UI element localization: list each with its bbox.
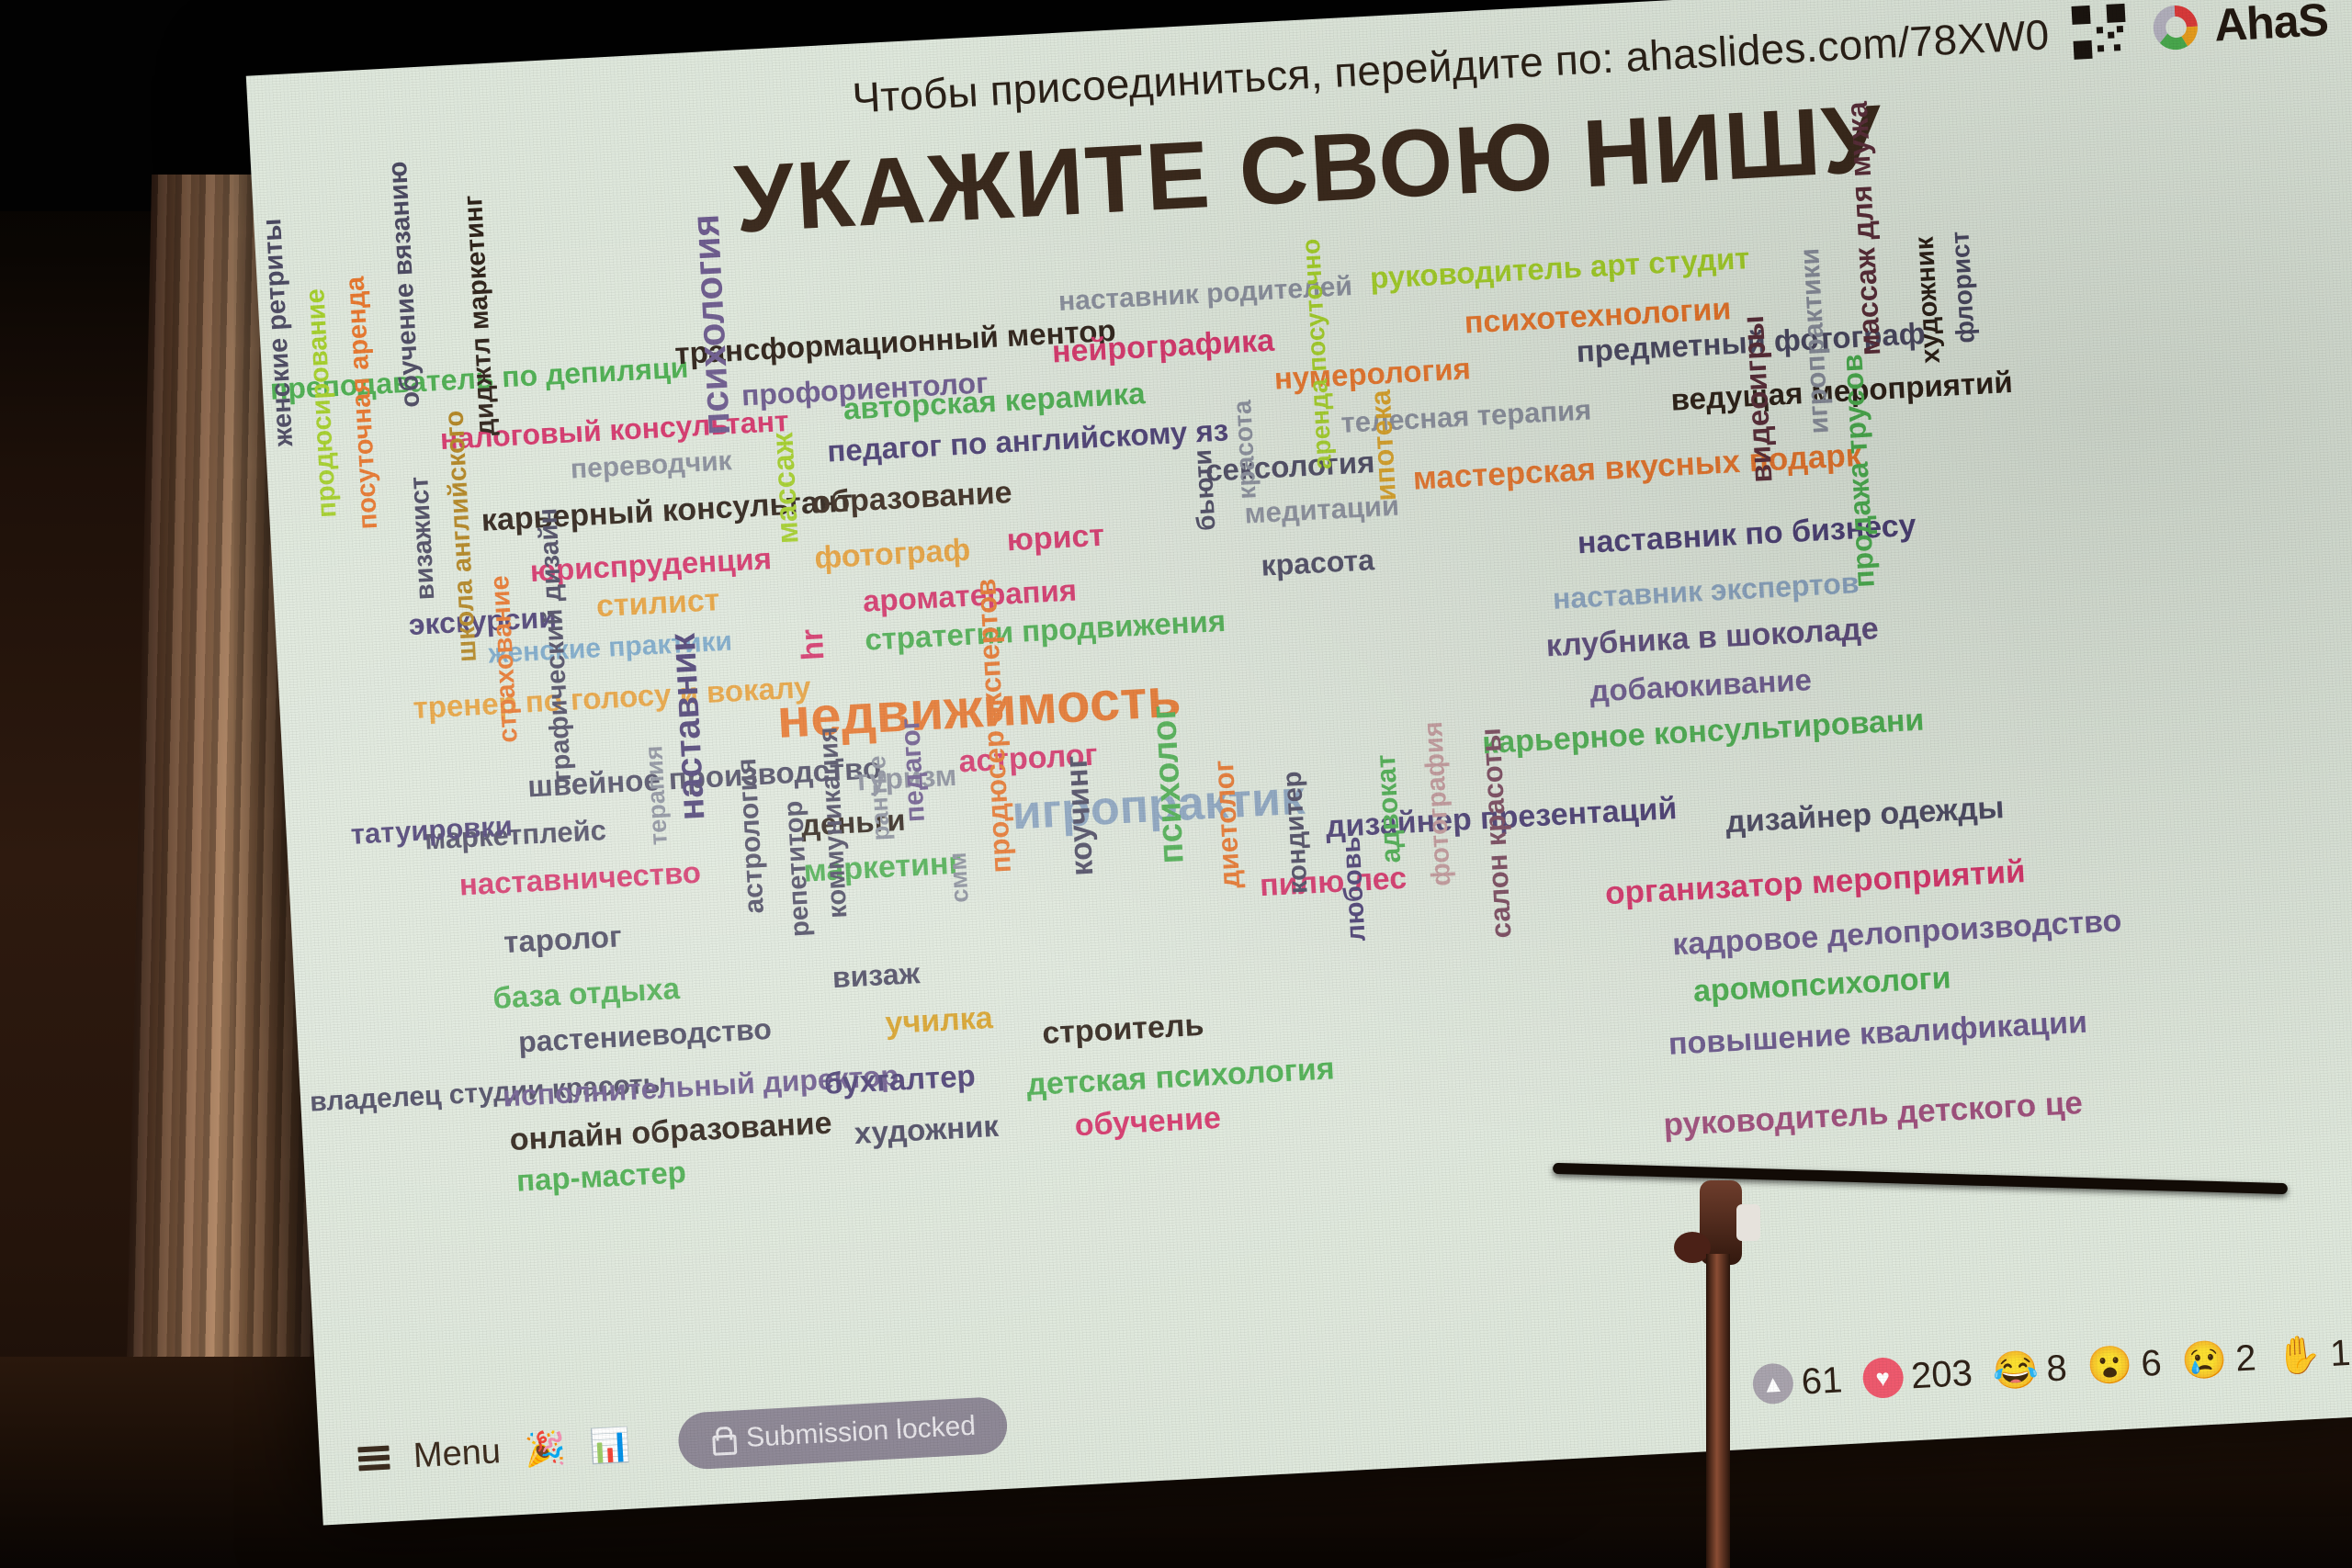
cloud-word: база отдыха bbox=[492, 973, 681, 1013]
menu-button[interactable]: Menu bbox=[413, 1432, 502, 1476]
submission-locked-label: Submission locked bbox=[745, 1411, 977, 1454]
cloud-word: наставник экспертов bbox=[1552, 568, 1860, 614]
cloud-word: смм bbox=[945, 852, 973, 903]
cloud-word: наставник bbox=[664, 632, 711, 821]
cloud-word: онлайн образование bbox=[509, 1107, 832, 1156]
ahaslides-brand: AhaS bbox=[2149, 0, 2330, 55]
reaction-item[interactable]: 😮6 bbox=[2086, 1342, 2162, 1387]
cloud-word: расстановки bbox=[246, 502, 266, 670]
thumbs-up-icon: ▲ bbox=[1752, 1362, 1794, 1404]
cloud-word: образование bbox=[810, 477, 1012, 519]
reaction-item[interactable]: 😢2 bbox=[2180, 1337, 2256, 1382]
cloud-word: повышение квалификации bbox=[1668, 1007, 2088, 1060]
cloud-word: кондитер bbox=[1280, 771, 1313, 895]
ahaslides-slide: Чтобы присоединиться, перейдите по: ahas… bbox=[246, 0, 2352, 1526]
cloud-word: добаюкивание bbox=[1589, 664, 1813, 706]
brand-name: AhaS bbox=[2212, 0, 2329, 52]
cloud-word: педагог bbox=[897, 717, 930, 823]
cloud-word: флорист bbox=[1947, 231, 1978, 344]
reaction-item[interactable]: ✋156 bbox=[2275, 1330, 2352, 1378]
cloud-word: страхование bbox=[487, 575, 523, 744]
cloud-word: видеоигры bbox=[1737, 315, 1777, 484]
cloud-word: клубника в шоколаде bbox=[1545, 613, 1880, 661]
reaction-item[interactable]: ▲61 bbox=[1752, 1359, 1844, 1405]
surprised-face-icon: 😮 bbox=[2086, 1347, 2134, 1386]
cloud-word: руководитель арт студит bbox=[1369, 243, 1750, 293]
cloud-word: татуировки bbox=[350, 812, 514, 849]
cloud-word: организатор мероприятий bbox=[1604, 855, 2026, 909]
hamburger-icon[interactable] bbox=[357, 1446, 390, 1472]
cloud-word: руководитель детского це bbox=[1663, 1087, 2084, 1141]
cloud-word: пар-мастер bbox=[515, 1156, 686, 1196]
heart-icon: ♥ bbox=[1861, 1357, 1904, 1399]
cloud-word: рантье bbox=[865, 755, 894, 841]
cloud-word: любовь bbox=[1339, 836, 1371, 942]
cloud-word: наставничество bbox=[458, 857, 702, 900]
lock-icon bbox=[708, 1426, 734, 1454]
submission-locked-badge[interactable]: Submission locked bbox=[677, 1396, 1009, 1471]
cloud-word: продюсирование bbox=[302, 288, 341, 518]
laughing-face-icon: 😂 bbox=[1992, 1351, 2040, 1391]
cloud-word: коучинг bbox=[1060, 755, 1098, 877]
cloud-word: hr bbox=[797, 628, 830, 661]
cloud-word: переводчик bbox=[570, 447, 732, 483]
cloud-word: детская психология bbox=[1025, 1053, 1335, 1100]
word-cloud: преподаватель по депиляцитрансформационн… bbox=[258, 193, 2352, 1388]
presentation-room-photo: Чтобы присоединиться, перейдите по: ahas… bbox=[0, 0, 2352, 1568]
cloud-word: трансформационный ментор bbox=[674, 315, 1117, 369]
cloud-word: фотограф bbox=[814, 535, 971, 574]
cloud-word: адвокат bbox=[1373, 753, 1406, 863]
projection-screen: Чтобы присоединиться, перейдите по: ahas… bbox=[0, 0, 2352, 1568]
cloud-word: визажист bbox=[406, 476, 439, 601]
cloud-word: посуточная аренда bbox=[343, 276, 383, 530]
cloud-word: психолог bbox=[1147, 705, 1190, 864]
cloud-word: художник bbox=[1912, 236, 1945, 364]
cloud-word: бьюти bbox=[1190, 449, 1220, 532]
cloud-word: юрист bbox=[1006, 520, 1105, 557]
cloud-word: дизайнер одежды bbox=[1724, 792, 2005, 838]
cloud-word: художник bbox=[854, 1111, 1000, 1148]
footer-controls: Menu 🎉 📊 Submission locked bbox=[356, 1396, 1008, 1488]
cloud-word: аромопсихологи bbox=[1692, 962, 1951, 1007]
cloud-word: строитель bbox=[1042, 1010, 1205, 1049]
reaction-count: 156 bbox=[2329, 1330, 2352, 1374]
reaction-count: 6 bbox=[2140, 1342, 2163, 1384]
raised-hand-icon: ✋ bbox=[2275, 1337, 2323, 1376]
cloud-word: таролог bbox=[503, 920, 622, 957]
reaction-count: 8 bbox=[2045, 1348, 2068, 1390]
cloud-word: красота bbox=[1229, 400, 1261, 500]
reaction-item[interactable]: 😂8 bbox=[1992, 1348, 2068, 1393]
cloud-word: мастерская вкусных подарк bbox=[1412, 439, 1862, 495]
cloud-word: терапия bbox=[641, 745, 672, 846]
qr-code-icon[interactable] bbox=[2072, 4, 2128, 60]
cloud-word: карьерное консультировани bbox=[1481, 705, 1925, 760]
reaction-count: 2 bbox=[2234, 1337, 2257, 1380]
ahaslides-logo-icon bbox=[2149, 0, 2203, 54]
cloud-word: пилю лес bbox=[1259, 863, 1408, 901]
reaction-count: 203 bbox=[1910, 1352, 1973, 1396]
cloud-word: растениеводство bbox=[517, 1014, 772, 1057]
cloud-word: тренер по голосу и вокалу bbox=[413, 671, 812, 723]
crying-face-icon: 😢 bbox=[2181, 1341, 2229, 1381]
chart-hidden-icon[interactable]: 📊 bbox=[589, 1428, 632, 1463]
cloud-word: диетолог bbox=[1209, 760, 1244, 889]
cloud-word: стилист bbox=[595, 584, 720, 622]
cloud-word: ипотека bbox=[1366, 389, 1400, 502]
reaction-item[interactable]: ♥203 bbox=[1861, 1352, 1973, 1399]
cloud-word: бухгалтер bbox=[823, 1060, 976, 1099]
cloud-word: экскурсии bbox=[408, 603, 558, 640]
reaction-count: 61 bbox=[1801, 1359, 1844, 1403]
confetti-icon[interactable]: 🎉 bbox=[524, 1431, 567, 1466]
cloud-word: училка bbox=[885, 1002, 994, 1039]
cloud-word: фотография bbox=[1420, 721, 1456, 887]
cloud-word: визаж bbox=[831, 958, 921, 992]
cloud-word: массаж bbox=[766, 432, 802, 545]
cloud-word: кадровое делопроизводство bbox=[1671, 905, 2122, 960]
reaction-counters: ▲61♥203😂8😮6😢2✋156 bbox=[1752, 1330, 2352, 1405]
cloud-word: красота bbox=[1261, 545, 1375, 581]
cloud-word: обучение bbox=[1074, 1102, 1222, 1141]
